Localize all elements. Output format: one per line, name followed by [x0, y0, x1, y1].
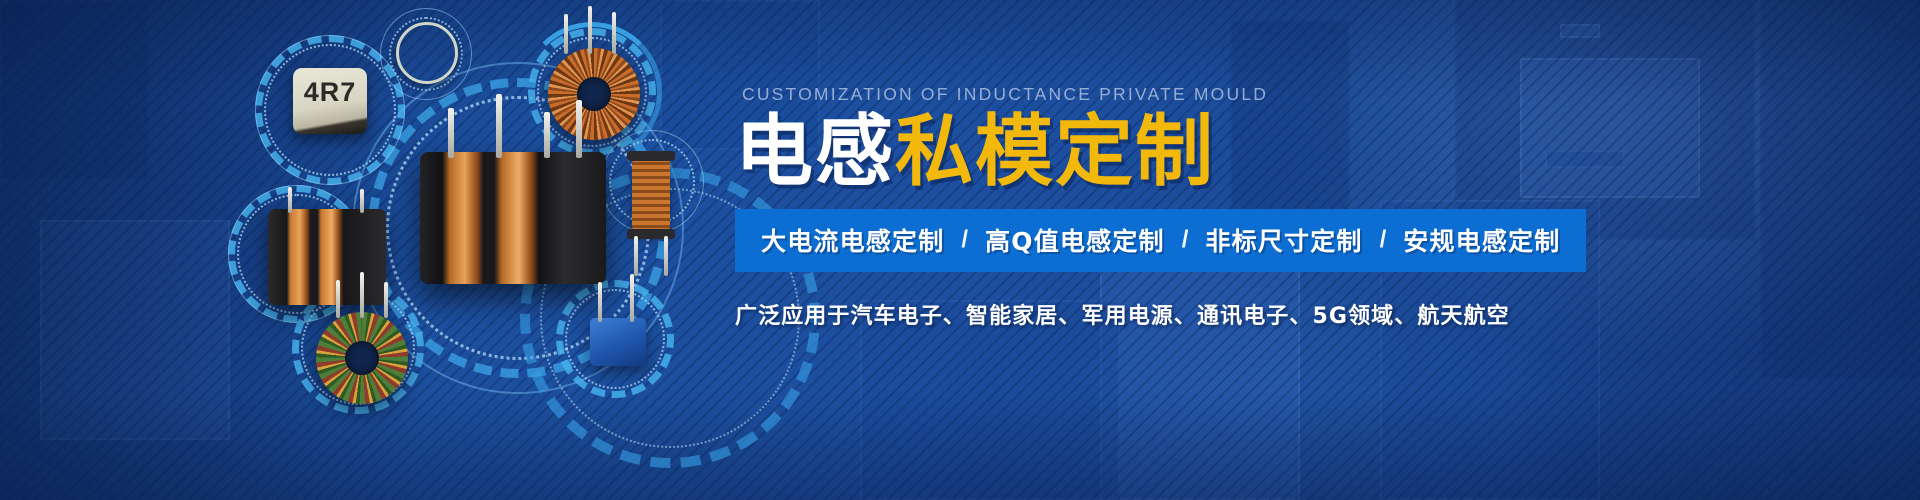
promo-banner: 4R7 CUSTO [0, 0, 1920, 500]
product-smd-power-inductor: 4R7 [293, 68, 367, 134]
tag-separator-1: / [1165, 226, 1206, 254]
cm-choke-lead-2 [360, 189, 364, 213]
service-tag-3[interactable]: 安规电感定制 [1403, 222, 1560, 258]
service-tag-0[interactable]: 大电流电感定制 [761, 222, 944, 258]
open-smd-body [243, 198, 321, 260]
large-choke-lead-1 [448, 108, 454, 158]
large-choke-body [420, 152, 606, 284]
toroid-lead-2 [588, 6, 592, 54]
headline-gold-part: 私模定制 [895, 107, 1215, 197]
service-tag-bar: 大电流电感定制 / 高Q值电感定制 / 非标尺寸定制 / 安规电感定制 [735, 209, 1586, 272]
page-title: 电感私模定制 [735, 113, 1835, 193]
large-choke-lead-2 [496, 94, 502, 158]
service-tag-2[interactable]: 非标尺寸定制 [1205, 222, 1362, 258]
service-tag-1[interactable]: 高Q值电感定制 [985, 222, 1165, 258]
large-choke-lead-3 [544, 112, 550, 158]
bobbin-lead-2 [664, 236, 668, 276]
tag-separator-0: / [944, 226, 985, 254]
application-footnote: 广泛应用于汽车电子、智能家居、军用电源、通讯电子、5G领域、航天航空 [735, 298, 1835, 330]
toroid-lead-1 [564, 14, 568, 54]
tag-separator-2: / [1363, 226, 1404, 254]
green-toroid-lead-2 [360, 272, 364, 318]
english-subtitle: CUSTOMIZATION OF INDUCTANCE PRIVATE MOUL… [742, 84, 1835, 105]
product-blue-radial-inductor [590, 318, 646, 366]
large-choke-lead-4 [576, 100, 582, 158]
smd-chip-code-label: 4R7 [304, 77, 357, 108]
blue-cap-lead-1 [598, 282, 602, 322]
product-large-common-mode-choke [420, 152, 606, 284]
product-wire-loop [396, 22, 458, 84]
bobbin-lead-1 [634, 236, 638, 276]
toroid-lead-3 [612, 12, 616, 54]
green-toroid-lead-3 [384, 282, 388, 318]
smd-chip-body: 4R7 [293, 68, 367, 134]
bobbin-body [632, 158, 670, 232]
green-toroid-lead-1 [336, 280, 340, 318]
banner-copy: CUSTOMIZATION OF INDUCTANCE PRIVATE MOUL… [735, 84, 1835, 330]
product-green-toroidal-inductor [316, 312, 408, 404]
green-toroid-body [316, 312, 408, 404]
product-bobbin-rod-inductor [632, 158, 670, 232]
product-toroidal-common-mode-choke [548, 48, 640, 140]
headline-white-part: 电感 [735, 107, 895, 197]
toroid-body [548, 48, 640, 140]
blue-cap-body [590, 318, 646, 366]
blue-cap-lead-2 [630, 274, 634, 322]
